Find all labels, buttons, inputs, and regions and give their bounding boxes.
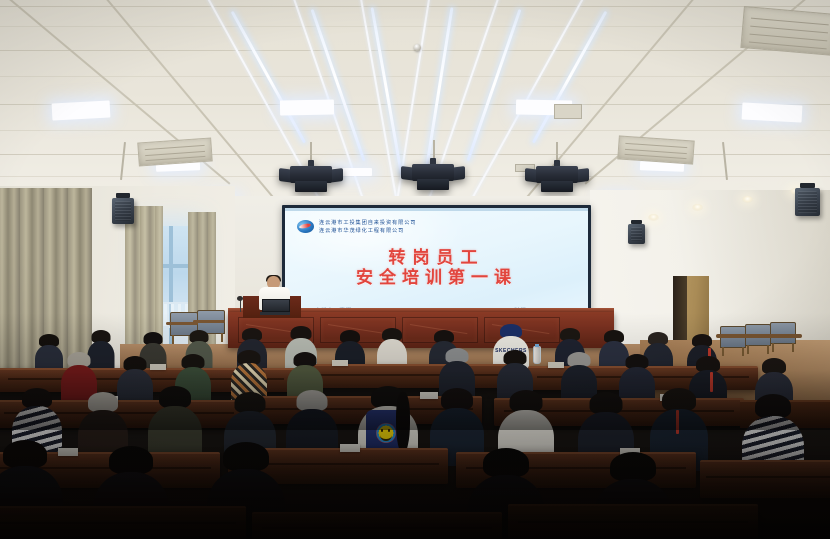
ceiling-panel-light <box>280 100 334 116</box>
wall-speaker <box>795 188 820 216</box>
side-chair[interactable] <box>770 322 796 344</box>
slide-logo-row: 连云港市工投集团自来投资有限公司 连云港市华茂绿化工程有限公司 <box>297 219 416 234</box>
strip-light <box>532 11 607 144</box>
strip-light <box>424 7 454 175</box>
water-bottle <box>533 346 541 364</box>
company-name-line-1: 连云港市工投集团自来投资有限公司 <box>319 219 416 226</box>
floor-shading <box>0 370 830 430</box>
ac-vent <box>617 135 694 164</box>
slide-title-line-2: 安全培训第一课 <box>285 268 588 289</box>
slide-title-line-1: 转岗员工 <box>285 248 588 268</box>
company-logo-icon <box>297 220 314 233</box>
sprinkler-head <box>414 44 421 51</box>
presenter-laptop <box>260 299 290 313</box>
ceiling-hanging-unit <box>290 160 332 194</box>
ceiling-hanging-unit <box>412 158 454 192</box>
ac-vent <box>137 137 212 166</box>
downlight <box>692 204 703 211</box>
wall-speaker <box>628 224 645 244</box>
microphone-icon <box>237 296 243 301</box>
strip-light <box>231 11 306 144</box>
ac-vent <box>740 6 830 56</box>
company-name-line-2: 连云港市华茂绿化工程有限公司 <box>319 227 416 234</box>
training-room-photo: 连云港市工投集团自来投资有限公司 连云港市华茂绿化工程有限公司 转岗员工 安全培… <box>0 0 830 539</box>
strip-light <box>311 9 366 161</box>
chair-armrest <box>193 320 225 323</box>
microphone-stand <box>240 300 241 312</box>
downlight <box>648 214 659 221</box>
ceiling-panel-light <box>52 100 111 120</box>
hanger-rod <box>722 142 728 180</box>
strip-light <box>466 9 521 161</box>
wall-speaker <box>112 198 134 224</box>
downlight <box>742 196 753 203</box>
ceiling-panel-light <box>742 102 803 122</box>
slide-title: 转岗员工 安全培训第一课 <box>285 248 588 289</box>
desk-paper <box>332 360 348 366</box>
ceiling-vent-small <box>554 104 582 119</box>
ceiling-hanging-unit <box>536 160 578 194</box>
hanger-rod <box>120 142 126 180</box>
chair-armrest <box>716 334 802 338</box>
foreground-shading <box>0 444 830 539</box>
